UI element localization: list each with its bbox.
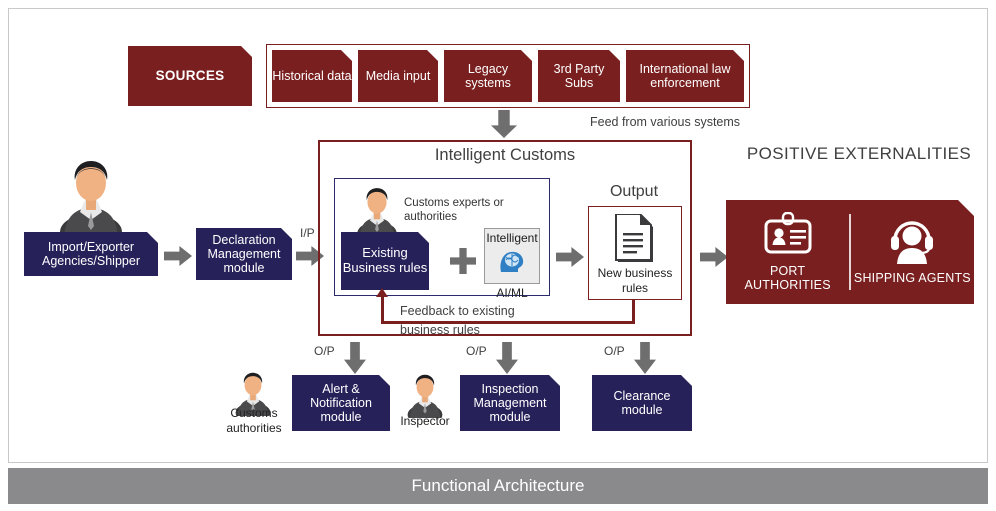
source-item-media-input[interactable]: Media input — [358, 50, 438, 102]
source-item-label: 3rd Party Subs — [538, 62, 620, 90]
customs-experts-label: Customs experts or authorities — [404, 196, 514, 225]
source-item-label: International law enforcement — [626, 62, 744, 90]
new-business-rules-label: New business rules — [592, 266, 678, 296]
source-item-label: Legacy systems — [444, 62, 532, 90]
alert-notification-module-box[interactable]: Alert & Notification module — [292, 375, 390, 431]
ai-card-title: Intelligent — [486, 231, 537, 245]
import-exporter-box[interactable]: Import/Exporter Agencies/Shipper — [24, 232, 158, 276]
pe-cell-label: SHIPPING AGENTS — [854, 271, 971, 285]
existing-business-rules-label: Existing Business rules — [341, 246, 429, 275]
source-item-3rd-party-subs[interactable]: 3rd Party Subs — [538, 50, 620, 102]
inspector-avatar-icon — [406, 372, 444, 418]
inspector-label: Inspector — [396, 414, 454, 429]
positive-externalities-panel: PORT AUTHORITIES SHIPPING AGENTS — [726, 200, 974, 304]
pe-cell-label: PORT AUTHORITIES — [726, 264, 849, 293]
import-exporter-label: Import/Exporter Agencies/Shipper — [24, 240, 158, 268]
feedback-arrowhead-icon — [376, 288, 388, 297]
customs-authorities-label: Customs authorities — [216, 406, 292, 436]
source-item-label: Historical data — [272, 69, 351, 83]
feed-from-various-systems-label: Feed from various systems — [590, 115, 780, 131]
op-label-3: O/P — [604, 344, 625, 359]
customs-expert-avatar-icon — [356, 184, 398, 238]
declaration-management-box[interactable]: Declaration Management module — [196, 228, 292, 280]
source-item-legacy-systems[interactable]: Legacy systems — [444, 50, 532, 102]
source-item-historical-data[interactable]: Historical data — [272, 50, 352, 102]
intelligent-customs-title: Intelligent Customs — [318, 146, 692, 166]
clearance-module-box[interactable]: Clearance module — [592, 375, 692, 431]
inspection-management-module-box[interactable]: Inspection Management module — [460, 375, 560, 431]
output-title: Output — [586, 182, 682, 201]
feedback-label: Feedback to existing business rules — [400, 302, 540, 340]
declaration-management-label: Declaration Management module — [196, 233, 292, 275]
module-label: Inspection Management module — [460, 382, 560, 424]
ai-ml-card[interactable]: Intelligent — [484, 228, 540, 284]
pe-cell-shipping-agents[interactable]: SHIPPING AGENTS — [851, 200, 974, 304]
import-exporter-avatar-icon — [58, 156, 124, 238]
feedback-line-vertical-left — [381, 296, 384, 323]
sources-tag[interactable]: SOURCES — [128, 46, 252, 106]
ip-label: I/P — [300, 226, 315, 241]
document-icon — [614, 214, 656, 264]
ai-brain-head-icon — [497, 246, 527, 276]
pe-cell-port-authorities[interactable]: PORT AUTHORITIES — [726, 200, 849, 304]
id-badge-icon — [762, 212, 814, 258]
module-label: Clearance module — [592, 389, 692, 417]
source-item-label: Media input — [366, 69, 431, 83]
source-item-international-law-enforcement[interactable]: International law enforcement — [626, 50, 744, 102]
module-label: Alert & Notification module — [292, 382, 390, 424]
positive-externalities-title: POSITIVE EXTERNALITIES — [736, 144, 982, 164]
footer-bar: Functional Architecture — [8, 468, 988, 504]
footer-title: Functional Architecture — [412, 476, 585, 496]
sources-tag-label: SOURCES — [156, 68, 225, 83]
ai-ml-caption: AI/ML — [484, 286, 540, 301]
op-label-2: O/P — [466, 344, 487, 359]
op-label-1: O/P — [314, 344, 335, 359]
functional-architecture-diagram: SOURCES Historical data Media input Lega… — [0, 0, 996, 511]
existing-business-rules-box[interactable]: Existing Business rules — [341, 232, 429, 290]
headset-agent-icon — [886, 219, 938, 265]
